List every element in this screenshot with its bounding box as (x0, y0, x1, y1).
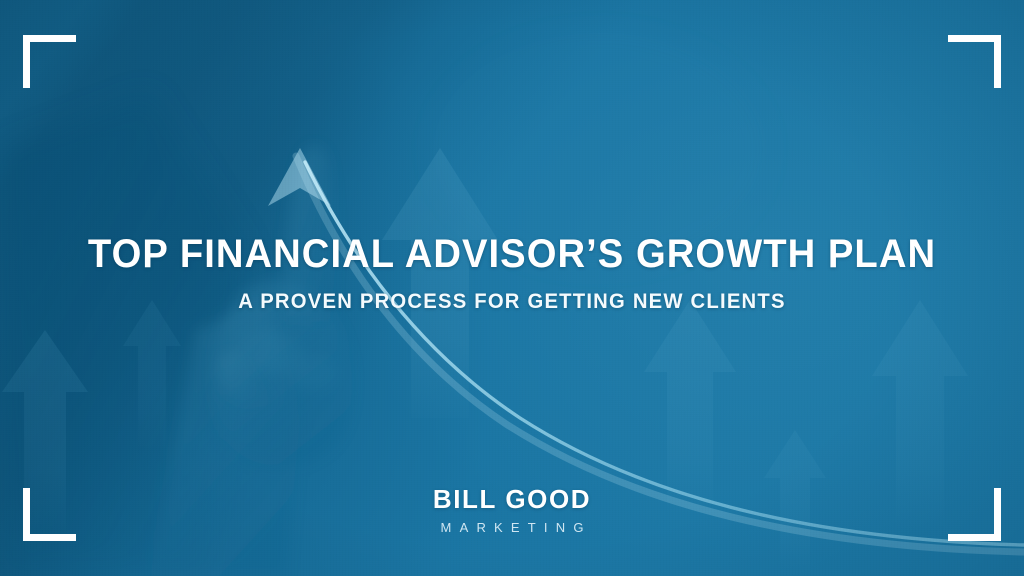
page-subtitle: A PROVEN PROCESS FOR GETTING NEW CLIENTS (18, 290, 1006, 313)
brand-logo-secondary: MARKETING (0, 521, 1024, 534)
arrow-up-mid-right (644, 300, 736, 515)
corner-bracket-top-left (23, 35, 76, 88)
title-card: TOP FINANCIAL ADVISOR’S GROWTH PLAN A PR… (0, 0, 1024, 576)
brand-logo: BILL GOOD MARKETING (0, 486, 1024, 534)
headline-block: TOP FINANCIAL ADVISOR’S GROWTH PLAN A PR… (0, 234, 1024, 313)
arrow-up-left-small (123, 300, 181, 450)
corner-bracket-top-right (948, 35, 1001, 88)
page-title: TOP FINANCIAL ADVISOR’S GROWTH PLAN (23, 234, 1001, 276)
brand-logo-primary: BILL GOOD (0, 486, 1024, 512)
